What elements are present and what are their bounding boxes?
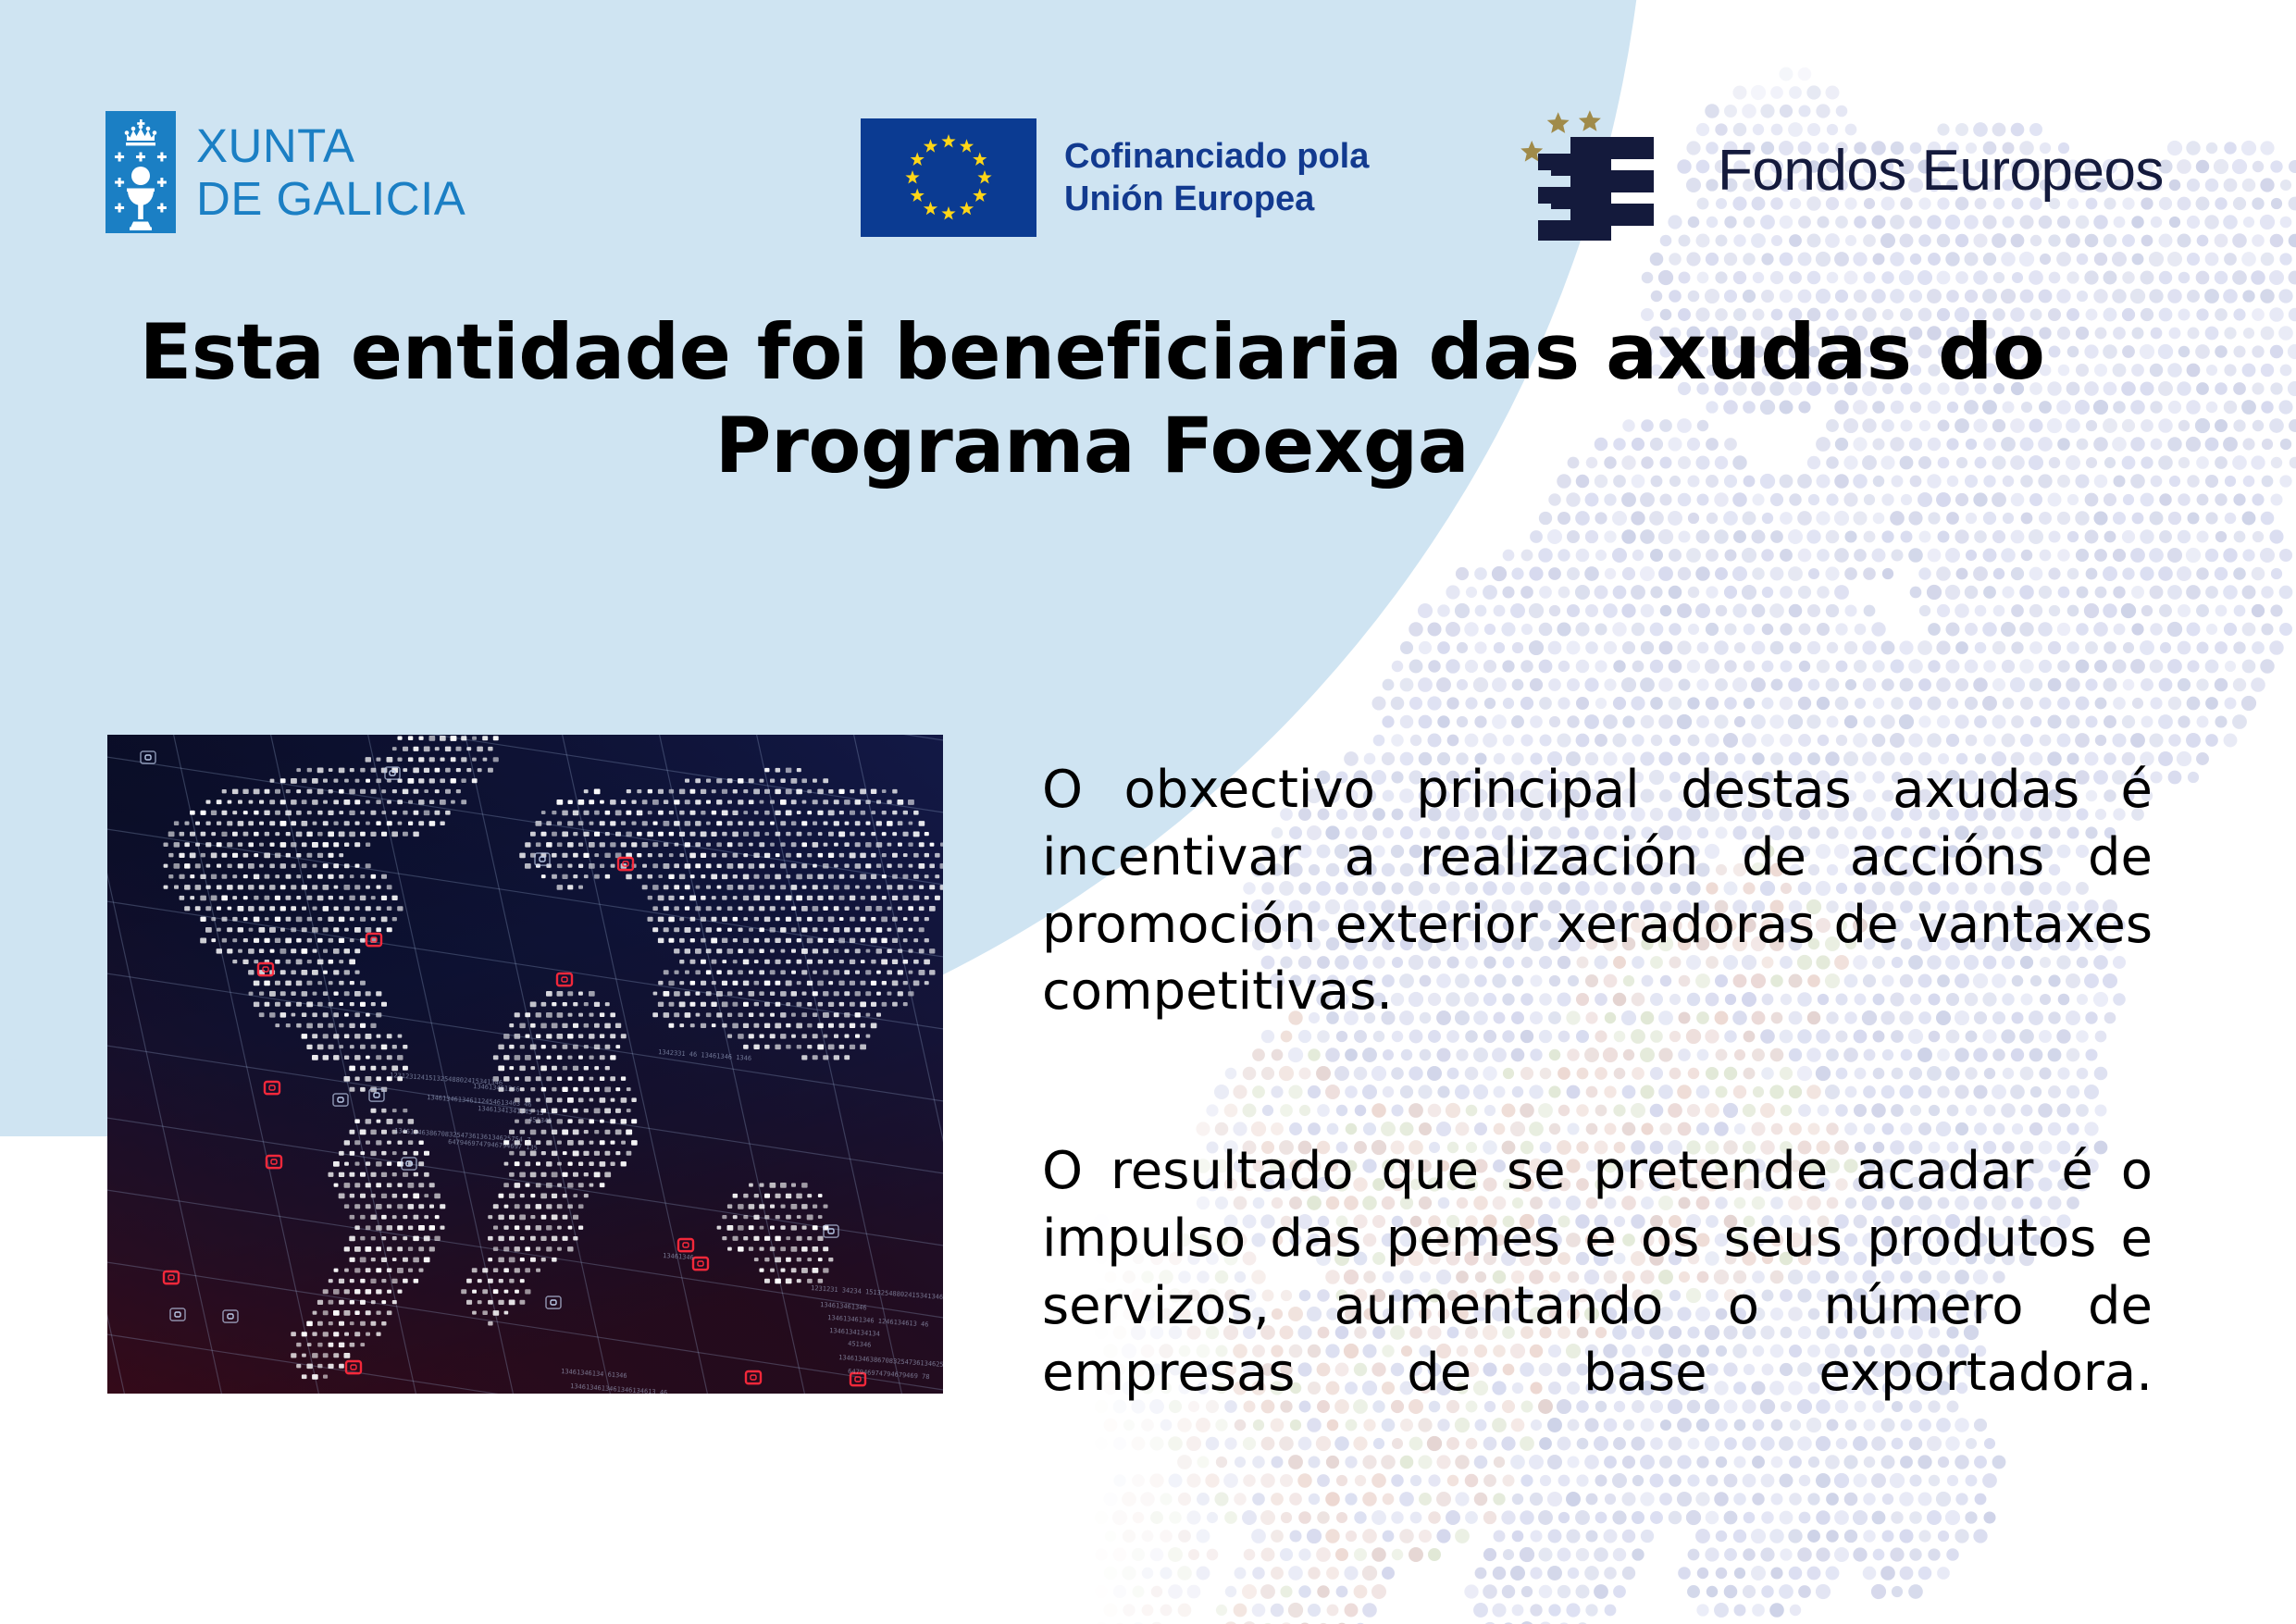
world-map-photo: 1231231241513254880241534134613461346134… [107,735,943,1394]
fondos-europeos-mark-icon [1518,102,1694,241]
body-paragraph-2: O resultado que se pretende acadar é o i… [1042,1138,2153,1475]
page-title-line2: Programa Foexga [120,399,2064,492]
xunta-wordmark: XUNTA DE GALICIA [196,119,465,225]
galicia-coat-of-arms-icon [105,111,176,233]
page-title-line1: Esta entidade foi beneficiaria das axuda… [120,305,2064,399]
eu-text-line1: Cofinanciado pola [1064,135,1369,178]
poster-canvas: XUNTA DE GALICIA Cofinanciado pola Unión… [0,0,2296,1624]
logo-fondos-europeos: Fondos Europeos [1518,102,2164,241]
european-union-text: Cofinanciado pola Unión Europea [1064,135,1369,221]
body-copy: O obxectivo principal destas axudas é in… [1042,757,2153,1475]
body-paragraph-1: O obxectivo principal destas axudas é in… [1042,757,2153,1094]
logo-european-union: Cofinanciado pola Unión Europea [861,118,1369,237]
logo-xunta-de-galicia: XUNTA DE GALICIA [105,111,465,233]
page-title: Esta entidade foi beneficiaria das axuda… [120,305,2064,493]
eu-text-line2: Unión Europea [1064,178,1369,220]
european-union-flag-icon [861,118,1036,237]
fondos-europeos-label: Fondos Europeos [1718,143,2164,200]
xunta-wordmark-line2: DE GALICIA [196,172,465,225]
xunta-wordmark-line1: XUNTA [196,119,465,172]
